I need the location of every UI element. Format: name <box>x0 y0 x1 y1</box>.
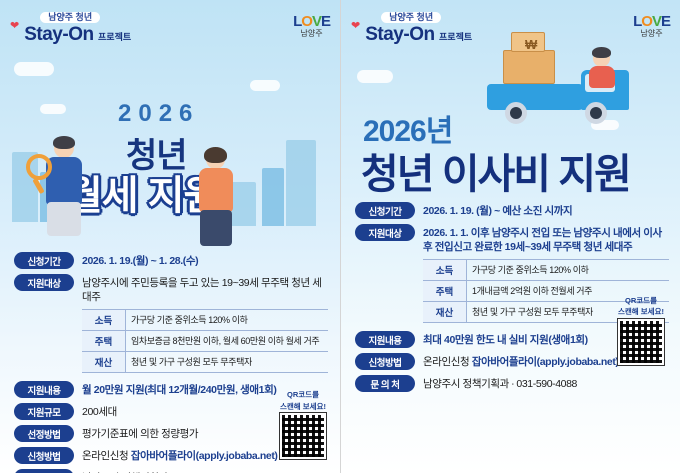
right-tag-howto: 신청방법 <box>355 353 415 370</box>
heart-icon: ❤ <box>10 21 19 32</box>
left-tag-selection: 선정방법 <box>14 425 74 442</box>
right-value-apply-period: 2026. 1. 19. (월) ~ 예산 소진 시까지 <box>423 202 572 218</box>
stay-on-main: Stay- <box>365 24 409 45</box>
left-value-scale: 200세대 <box>82 403 117 419</box>
left-howto-link[interactable]: 잡아바어플라이(apply.jobaba.net) <box>131 450 278 462</box>
left-row-target: 지원대상 남양주시에 주민등록을 두고 있는 19~39세 무주택 청년 세대주 <box>14 274 326 304</box>
left-row-apply-period: 신청기간 2026. 1. 19.(월) ~ 1. 28.(수) <box>14 252 326 269</box>
right-title: 청년 이사비 지원 <box>361 140 630 200</box>
table-row: 주택 임차보증금 8천만원 이하, 월세 60만원 이하 월세 거주 <box>82 331 328 352</box>
stay-on-main: Stay- <box>24 24 68 45</box>
left-value-apply-period: 2026. 1. 19.(월) ~ 1. 28.(수) <box>82 252 198 268</box>
right-criteria-key-income: 소득 <box>423 260 467 280</box>
right-criteria-value-income: 가구당 기준 중위소득 120% 이하 <box>467 260 669 280</box>
stay-on-logo: ❤ 남양주 청년 Stay-On 프로젝트 <box>351 8 472 45</box>
left-qr-label-1: QR코드를 <box>280 390 326 399</box>
truck-wheel <box>505 102 527 124</box>
person-torso <box>199 168 233 212</box>
magnifier-icon <box>26 154 52 180</box>
stay-on-text: 남양주 청년 Stay-On 프로젝트 <box>24 8 131 45</box>
left-howto-prefix: 온라인신청 <box>82 450 131 462</box>
right-tag-contact: 문 의 처 <box>355 375 415 392</box>
stay-on-top-label: 남양주 청년 <box>40 12 100 23</box>
right-tag-support: 지원내용 <box>355 331 415 348</box>
person-hair <box>53 136 75 149</box>
right-qr-block[interactable]: QR코드를 스캔해 보세요! <box>618 296 664 365</box>
right-criteria-key-house: 주택 <box>423 281 467 301</box>
left-value-support: 월 20만원 지원(최대 12개월/240만원, 생애1회) <box>82 381 276 397</box>
right-value-target: 2026. 1. 1. 이후 남양주시 전입 또는 남양주시 내에서 이사 후 … <box>423 224 666 254</box>
person-legs <box>47 202 81 236</box>
logo-letter-o: O <box>641 13 652 30</box>
truck-wheel <box>585 102 607 124</box>
person-torso <box>589 66 615 88</box>
logo-wordmark: LOVE <box>293 14 330 31</box>
truck-bed <box>487 84 583 110</box>
stay-on-sub: 프로젝트 <box>439 32 472 42</box>
logo-letter-e: E <box>321 13 330 30</box>
logo-letter-v: V <box>312 13 321 30</box>
right-value-support: 최대 40만원 한도 내 실비 지원(생애1회) <box>423 331 588 347</box>
stay-on-logo: ❤ 남양주 청년 Stay-On 프로젝트 <box>10 8 131 45</box>
brand-header: ❤ 남양주 청년 Stay-On 프로젝트 LOVE 남양주 <box>0 8 340 45</box>
poster-left: ❤ 남양주 청년 Stay-On 프로젝트 LOVE 남양주 2026 청년 월… <box>0 0 340 473</box>
left-tag-target: 지원대상 <box>14 274 74 291</box>
stay-on-accent: On <box>68 24 93 45</box>
right-qr-label-2: 스캔해 보세요! <box>618 307 664 316</box>
left-criteria-key-house: 주택 <box>82 331 126 351</box>
qr-code-icon[interactable] <box>280 413 326 459</box>
left-tag-apply-period: 신청기간 <box>14 252 74 269</box>
left-title-line2: 월세 지원 <box>66 163 219 221</box>
left-qr-label-2: 스캔해 보세요! <box>280 402 326 411</box>
left-value-selection: 평가기준표에 의한 정량평가 <box>82 425 198 441</box>
stay-on-wordmark: Stay-On 프로젝트 <box>365 25 472 45</box>
logo-wordmark: LOVE <box>633 14 670 31</box>
left-criteria-value-house: 임차보증금 8천만원 이하, 월세 60만원 이하 월세 거주 <box>126 331 328 351</box>
left-year: 2026 <box>118 100 199 128</box>
table-row: 재산 청년 및 가구 구성원 모두 무주택자 <box>82 352 328 373</box>
cloud-shape <box>357 70 393 83</box>
left-tag-contact: 문 의 처 <box>14 469 74 473</box>
right-row-target: 지원대상 2026. 1. 1. 이후 남양주시 전입 또는 남양주시 내에서 … <box>355 224 666 254</box>
stay-on-text: 남양주 청년 Stay-On 프로젝트 <box>365 8 472 45</box>
cloud-shape <box>14 62 54 76</box>
left-value-contact: 남양주시 정책기획과 ∙ 031-590-4088 <box>82 469 236 473</box>
won-mark: ₩ <box>525 37 537 52</box>
logo-city-name: 남양주 <box>293 30 330 39</box>
left-row-contact: 문 의 처 남양주시 정책기획과 ∙ 031-590-4088 <box>14 469 326 473</box>
namyangju-logo: LOVE 남양주 <box>633 14 670 39</box>
logo-city-name: 남양주 <box>633 30 670 39</box>
right-row-apply-period: 신청기간 2026. 1. 19. (월) ~ 예산 소진 시까지 <box>355 202 666 219</box>
right-qr-label-1: QR코드를 <box>618 296 664 305</box>
building-shape <box>286 140 316 226</box>
logo-letter-o: O <box>301 13 312 30</box>
moving-truck-illustration: ₩ <box>481 44 671 134</box>
left-criteria-key-assets: 재산 <box>82 352 126 372</box>
left-criteria-value-assets: 청년 및 가구 구성원 모두 무주택자 <box>126 352 328 372</box>
logo-letter-e: E <box>661 13 670 30</box>
poster-right: ❤ 남양주 청년 Stay-On 프로젝트 LOVE 남양주 ₩ <box>340 0 680 473</box>
right-value-contact: 남양주시 정책기획과 ∙ 031-590-4088 <box>423 375 577 391</box>
namyangju-logo: LOVE 남양주 <box>293 14 330 39</box>
logo-letter-v: V <box>652 13 661 30</box>
right-howto-link[interactable]: 잡아바어플라이(apply.jobaba.net) <box>472 356 619 368</box>
left-value-howto: 온라인신청 잡아바어플라이(apply.jobaba.net) <box>82 447 278 463</box>
stay-on-accent: On <box>409 24 434 45</box>
heart-icon: ❤ <box>351 21 360 32</box>
stay-on-wordmark: Stay-On 프로젝트 <box>24 25 131 45</box>
left-tag-scale: 지원규모 <box>14 403 74 420</box>
left-qr-block[interactable]: QR코드를 스캔해 보세요! <box>280 390 326 459</box>
left-tag-howto: 신청방법 <box>14 447 74 464</box>
cloud-shape <box>250 80 280 91</box>
left-tag-support: 지원내용 <box>14 381 74 398</box>
right-criteria-key-assets: 재산 <box>423 302 467 322</box>
right-tag-target: 지원대상 <box>355 224 415 241</box>
table-row: 소득 가구당 기준 중위소득 120% 이하 <box>423 260 669 281</box>
right-value-howto: 온라인신청 잡아바어플라이(apply.jobaba.net) <box>423 353 619 369</box>
left-value-target: 남양주시에 주민등록을 두고 있는 19~39세 무주택 청년 세대주 <box>82 274 326 304</box>
left-criteria-table: 소득 가구당 기준 중위소득 120% 이하 주택 임차보증금 8천만원 이하,… <box>82 309 328 373</box>
cargo-box-large <box>503 50 555 84</box>
person-legs <box>200 210 232 246</box>
right-tag-apply-period: 신청기간 <box>355 202 415 219</box>
left-criteria-key-income: 소득 <box>82 310 126 330</box>
building-shape <box>262 168 284 226</box>
stay-on-top-label: 남양주 청년 <box>381 12 441 23</box>
person-hair <box>204 147 227 163</box>
left-criteria-value-income: 가구당 기준 중위소득 120% 이하 <box>126 310 328 330</box>
qr-code-icon[interactable] <box>618 319 664 365</box>
poster-pair: ❤ 남양주 청년 Stay-On 프로젝트 LOVE 남양주 2026 청년 월… <box>0 0 680 473</box>
table-row: 소득 가구당 기준 중위소득 120% 이하 <box>82 310 328 331</box>
right-howto-prefix: 온라인신청 <box>423 356 472 368</box>
stay-on-sub: 프로젝트 <box>98 32 131 42</box>
cloud-shape <box>40 104 66 114</box>
person-hair <box>592 47 611 58</box>
right-row-contact: 문 의 처 남양주시 정책기획과 ∙ 031-590-4088 <box>355 375 666 392</box>
